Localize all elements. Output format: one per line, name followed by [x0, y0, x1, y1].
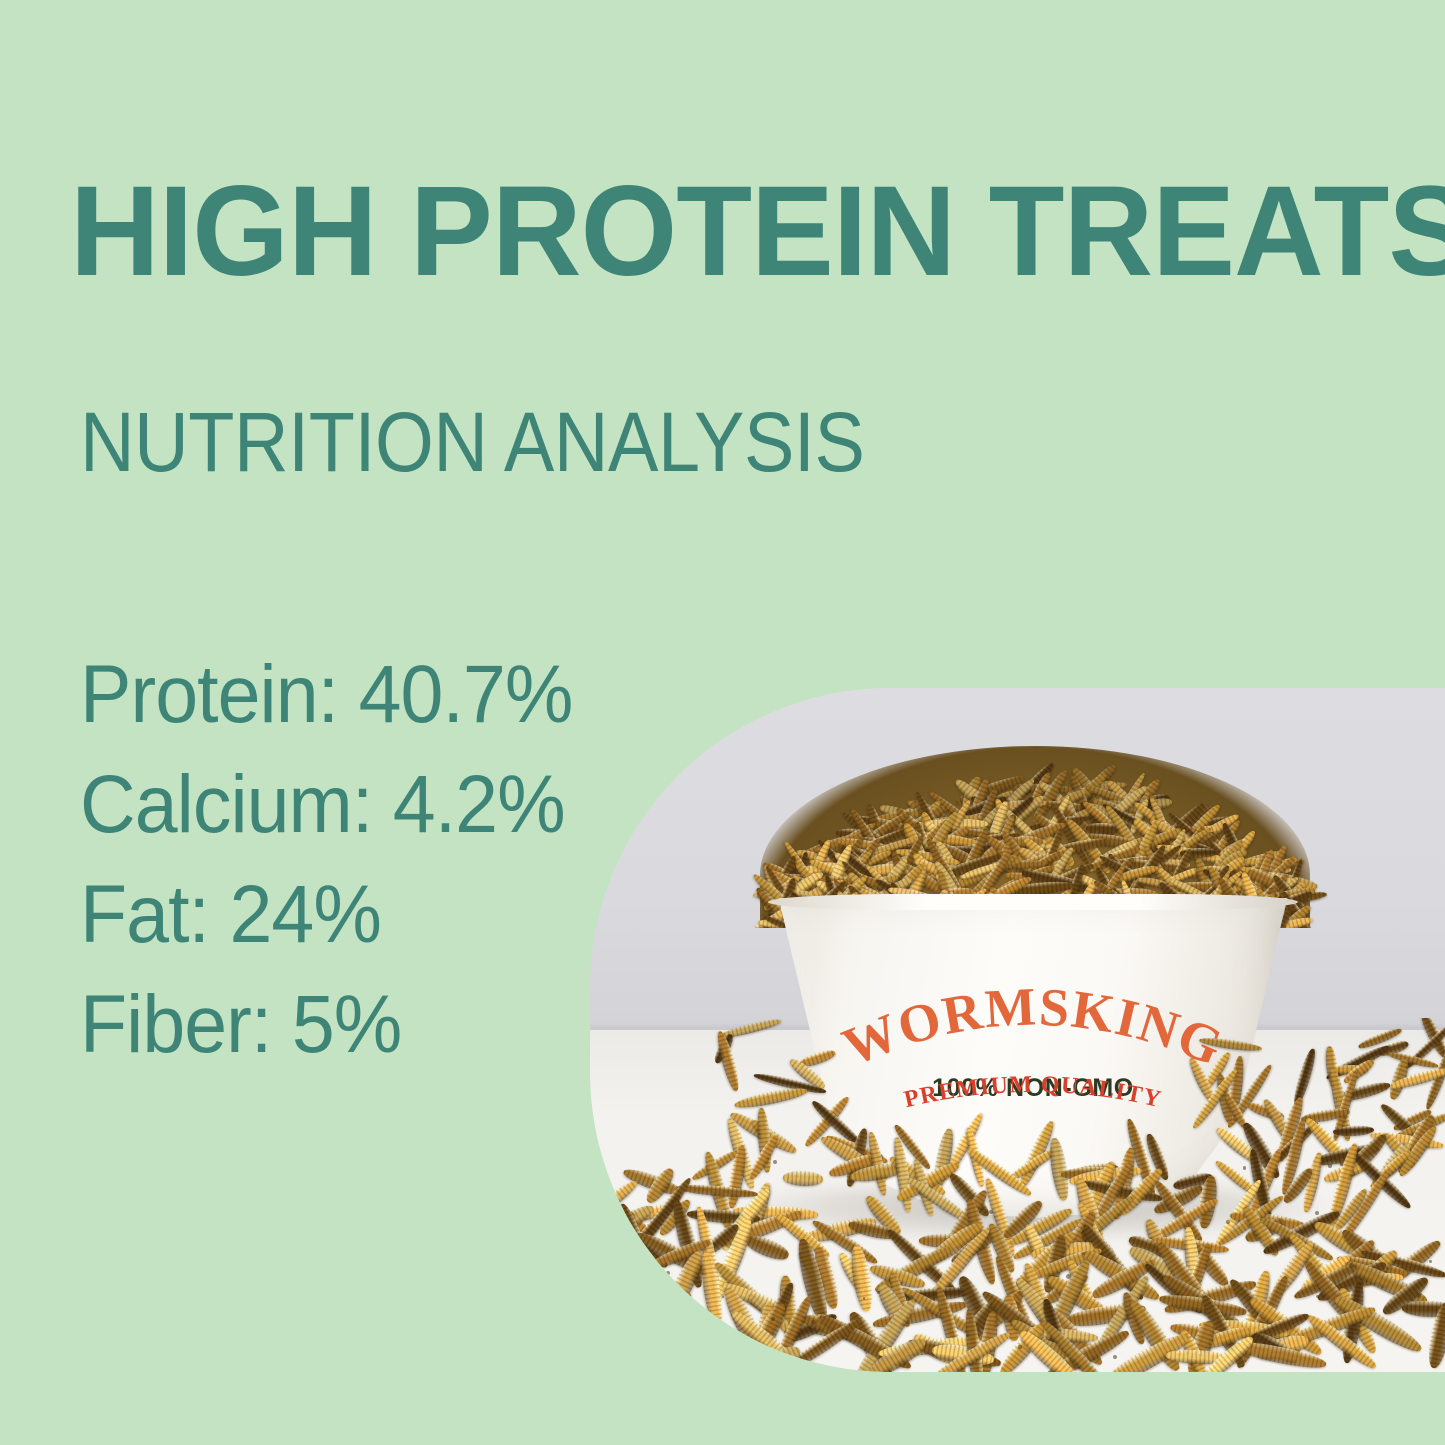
- table-speck: [1429, 1260, 1431, 1262]
- larva: [1387, 1049, 1439, 1070]
- page-title: HIGH PROTEIN TREATS: [70, 168, 1445, 296]
- infographic-canvas: HIGH PROTEIN TREATS NUTRITION ANALYSIS P…: [0, 0, 1445, 1445]
- larva: [783, 1171, 824, 1188]
- table-speck: [1226, 1220, 1230, 1224]
- list-item: Fiber: 5%: [80, 970, 663, 1080]
- table-speck: [610, 1227, 615, 1232]
- larva: [1291, 1047, 1318, 1106]
- table-speck: [1328, 1164, 1332, 1168]
- table-speck: [1113, 1355, 1117, 1359]
- table-speck: [1243, 1166, 1247, 1170]
- table-speck: [1018, 1345, 1022, 1349]
- larva: [733, 1084, 808, 1111]
- list-item: Fat: 24%: [80, 860, 663, 970]
- list-item: Protein: 40.7%: [80, 640, 663, 750]
- table-speck: [910, 1295, 913, 1298]
- table-speck: [1416, 1293, 1421, 1298]
- table-speck: [722, 1296, 724, 1298]
- bowl-rim: [768, 894, 1298, 910]
- list-item: Calcium: 4.2%: [80, 750, 663, 860]
- larva: [1198, 1036, 1262, 1054]
- table-speck: [666, 1271, 670, 1275]
- larvae-scatter-on-table: [590, 1018, 1445, 1372]
- table-speck: [1315, 1211, 1319, 1215]
- larva: [743, 1231, 792, 1264]
- table-speck: [685, 1260, 687, 1262]
- product-photo: WORMSKING 100% NON-GMO PREMIUM QUALITY: [590, 688, 1445, 1372]
- section-subtitle: NUTRITION ANALYSIS: [80, 400, 864, 484]
- table-speck: [639, 1292, 641, 1294]
- product-photo-scene: WORMSKING 100% NON-GMO PREMIUM QUALITY: [590, 688, 1445, 1372]
- table-speck: [773, 1160, 777, 1164]
- table-speck: [863, 1297, 865, 1299]
- table-speck: [592, 1139, 594, 1141]
